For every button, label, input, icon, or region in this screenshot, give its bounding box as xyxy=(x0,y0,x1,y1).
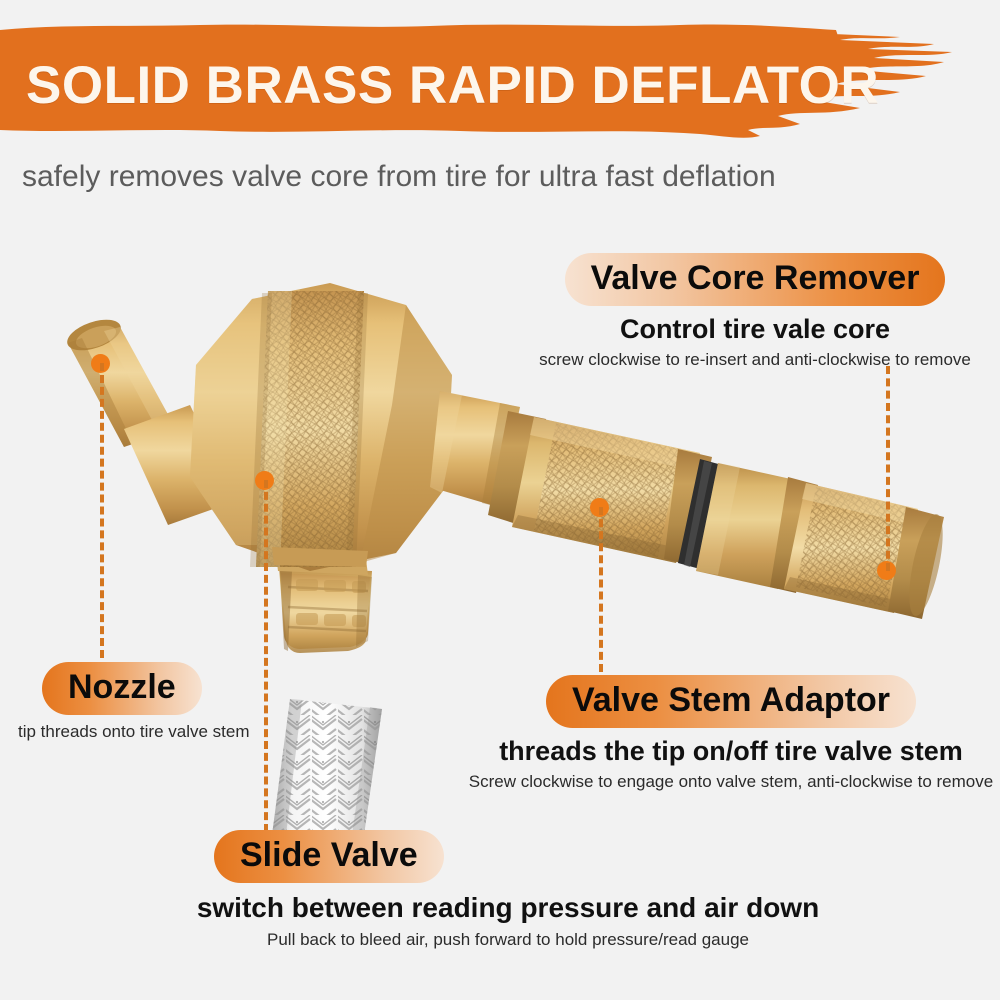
callout-title-valve-stem-adaptor[interactable]: Valve Stem Adaptor xyxy=(546,675,916,728)
callout-line2-valve-stem-adaptor: Screw clockwise to engage onto valve ste… xyxy=(462,772,1000,792)
callout-valve-core-remover: Valve Core Remover Control tire vale cor… xyxy=(520,253,990,370)
callout-line2-valve-core-remover: screw clockwise to re-insert and anti-cl… xyxy=(520,350,990,370)
callout-line1-slide-valve: switch between reading pressure and air … xyxy=(168,892,848,924)
callout-line2-nozzle: tip threads onto tire valve stem xyxy=(18,722,318,742)
callout-title-valve-core-remover[interactable]: Valve Core Remover xyxy=(565,253,946,306)
callout-line1-valve-core-remover: Control tire vale core xyxy=(520,314,990,345)
callout-title-slide-valve[interactable]: Slide Valve xyxy=(214,830,444,883)
callout-line2-slide-valve: Pull back to bleed air, push forward to … xyxy=(168,930,848,950)
leader-line-valve-core-remover xyxy=(886,366,890,571)
main-body-part xyxy=(190,283,452,571)
leader-line-slide-valve xyxy=(264,480,268,832)
page-title: SOLID BRASS RAPID DEFLATOR xyxy=(26,55,966,116)
leader-line-valve-stem-adaptor xyxy=(599,507,603,672)
page-subtitle: safely removes valve core from tire for … xyxy=(22,160,982,194)
callout-title-nozzle[interactable]: Nozzle xyxy=(42,662,202,715)
callout-slide-valve: Slide Valve switch between reading press… xyxy=(168,830,848,950)
leader-line-nozzle xyxy=(100,363,104,658)
header-banner: SOLID BRASS RAPID DEFLATOR xyxy=(0,0,1000,152)
callout-nozzle: Nozzle tip threads onto tire valve stem xyxy=(18,662,318,742)
callout-valve-stem-adaptor: Valve Stem Adaptor threads the tip on/of… xyxy=(462,675,1000,792)
valve-core-remover-part xyxy=(696,463,950,619)
callout-line1-valve-stem-adaptor: threads the tip on/off tire valve stem xyxy=(462,736,1000,767)
